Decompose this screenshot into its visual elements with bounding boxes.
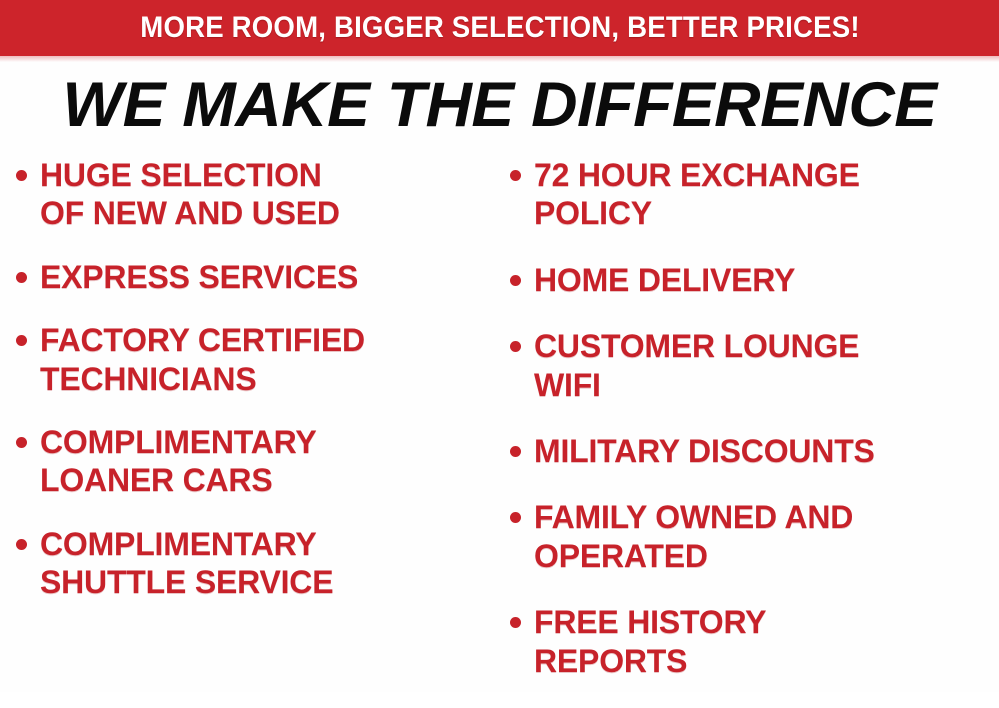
features-column-right: 72 HOUR EXCHANGE POLICY HOME DELIVERY CU… bbox=[500, 156, 999, 708]
list-item-label: FACTORY CERTIFIED TECHNICIANS bbox=[40, 321, 365, 398]
list-item-label: COMPLIMENTARY SHUTTLE SERVICE bbox=[40, 525, 333, 602]
bullet-dot-icon bbox=[16, 272, 27, 283]
list-item-label: FAMILY OWNED AND OPERATED bbox=[534, 498, 853, 575]
list-item: 72 HOUR EXCHANGE POLICY bbox=[510, 156, 999, 233]
bullet-dot-icon bbox=[16, 170, 27, 181]
features-column-left: HUGE SELECTION OF NEW AND USED EXPRESS S… bbox=[0, 156, 500, 627]
bullet-dot-icon bbox=[16, 539, 27, 550]
list-item-label: FREE HISTORY REPORTS bbox=[534, 603, 766, 680]
list-item-label: COMPLIMENTARY LOANER CARS bbox=[40, 423, 317, 500]
bullet-dot-icon bbox=[16, 335, 27, 346]
list-item: MILITARY DISCOUNTS bbox=[510, 432, 999, 470]
bullet-dot-icon bbox=[510, 446, 521, 457]
list-item: FACTORY CERTIFIED TECHNICIANS bbox=[16, 321, 500, 398]
page-title: WE MAKE THE DIFFERENCE bbox=[62, 74, 936, 137]
banner-underglow bbox=[0, 56, 999, 62]
list-item: CUSTOMER LOUNGE WIFI bbox=[510, 327, 999, 404]
headline-container: WE MAKE THE DIFFERENCE bbox=[0, 56, 999, 150]
bullet-dot-icon bbox=[510, 512, 521, 523]
bullet-dot-icon bbox=[510, 617, 521, 628]
list-item: FREE HISTORY REPORTS bbox=[510, 603, 999, 680]
list-item-label: 72 HOUR EXCHANGE POLICY bbox=[534, 156, 860, 233]
list-item: FAMILY OWNED AND OPERATED bbox=[510, 498, 999, 575]
list-item-label: EXPRESS SERVICES bbox=[40, 258, 358, 296]
bullet-dot-icon bbox=[510, 341, 521, 352]
features-columns: HUGE SELECTION OF NEW AND USED EXPRESS S… bbox=[0, 150, 999, 708]
list-item-label: HUGE SELECTION OF NEW AND USED bbox=[40, 156, 340, 233]
list-item: EXPRESS SERVICES bbox=[16, 258, 500, 296]
list-item-label: HOME DELIVERY bbox=[534, 261, 795, 299]
promo-banner: MORE ROOM, BIGGER SELECTION, BETTER PRIC… bbox=[0, 0, 999, 56]
list-item-label: MILITARY DISCOUNTS bbox=[534, 432, 875, 470]
list-item: COMPLIMENTARY SHUTTLE SERVICE bbox=[16, 525, 500, 602]
bullet-dot-icon bbox=[510, 275, 521, 286]
promo-banner-text: MORE ROOM, BIGGER SELECTION, BETTER PRIC… bbox=[140, 13, 859, 43]
bullet-dot-icon bbox=[510, 170, 521, 181]
list-item-label: CUSTOMER LOUNGE WIFI bbox=[534, 327, 859, 404]
list-item: HUGE SELECTION OF NEW AND USED bbox=[16, 156, 500, 233]
list-item: COMPLIMENTARY LOANER CARS bbox=[16, 423, 500, 500]
bullet-dot-icon bbox=[16, 437, 27, 448]
list-item: HOME DELIVERY bbox=[510, 261, 999, 299]
advertisement-root: MORE ROOM, BIGGER SELECTION, BETTER PRIC… bbox=[0, 0, 999, 692]
